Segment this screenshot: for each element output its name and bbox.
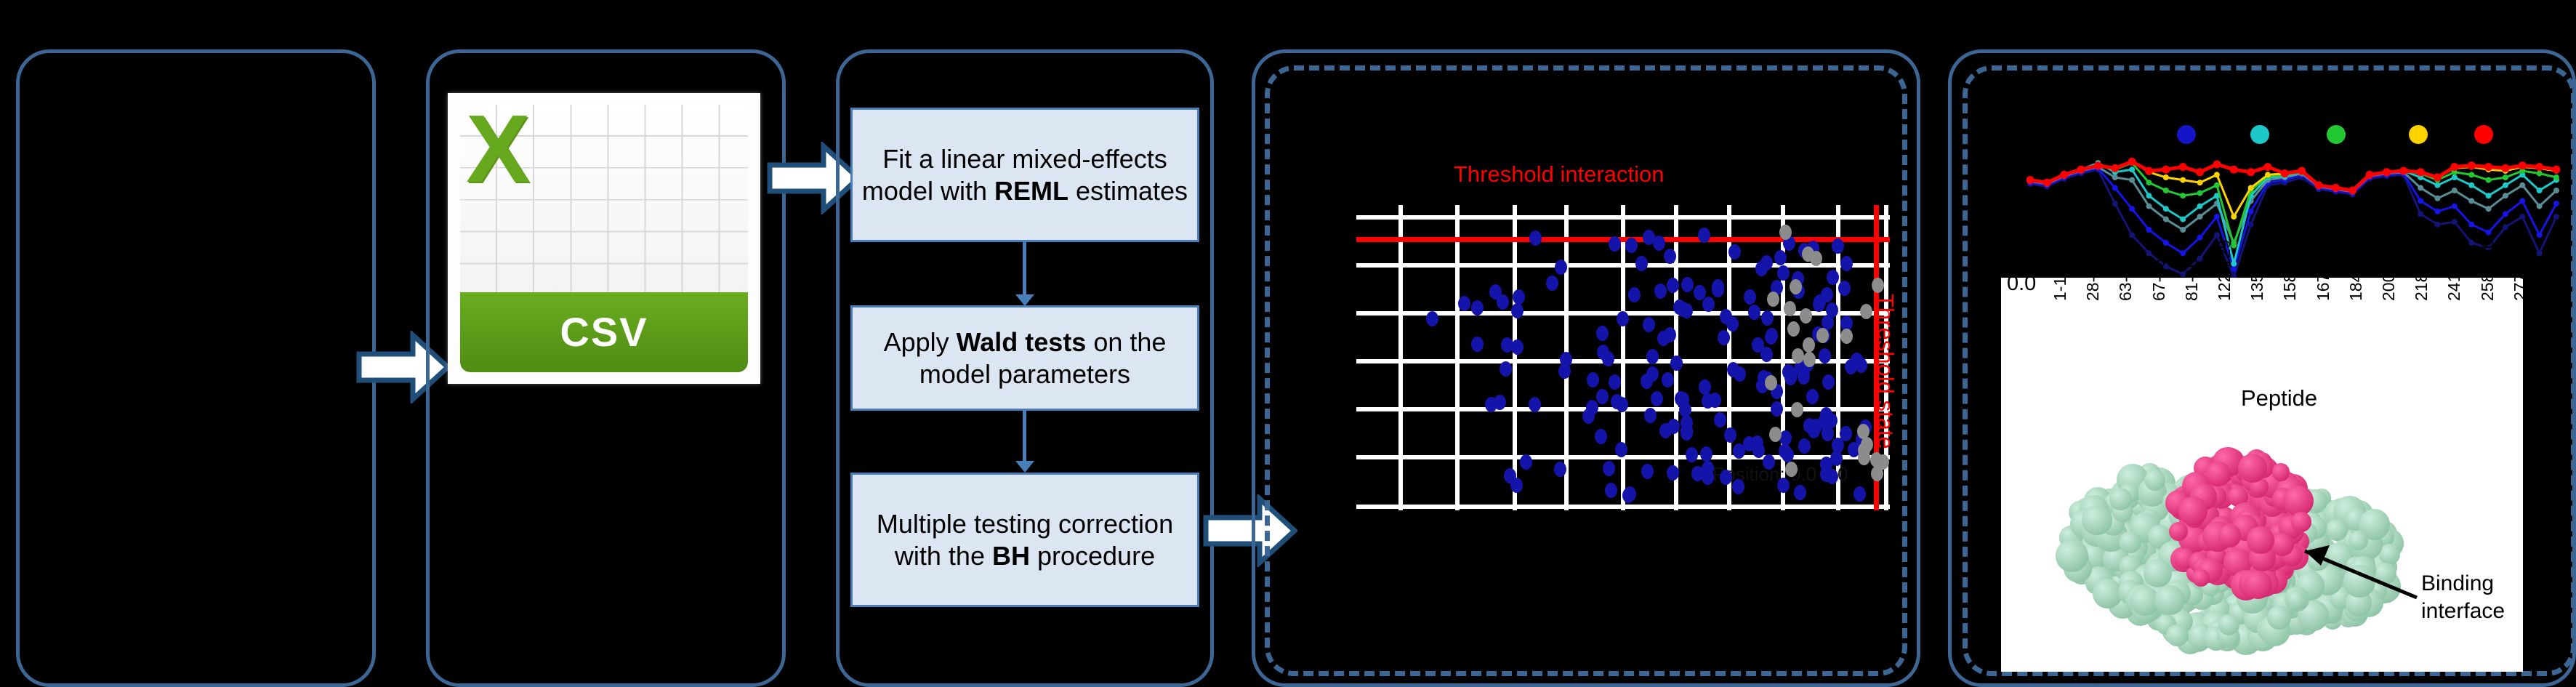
line-series-marker	[2263, 163, 2271, 171]
line-series-marker	[2486, 193, 2492, 198]
threshold-state-label: Threshold state	[1872, 294, 1899, 449]
line-series-marker	[2435, 182, 2441, 188]
line-series-marker	[2247, 168, 2255, 176]
peptide-tick-label: 81-101	[2182, 249, 2202, 301]
line-series-marker	[2537, 232, 2543, 238]
peptide-tick-label: 258-266	[2478, 240, 2497, 301]
scatter-point	[1628, 287, 1641, 302]
process-box-wald: Apply Wald tests on the model parameters	[850, 305, 1199, 411]
scatter-point	[1838, 281, 1851, 296]
line-series-marker	[2112, 174, 2118, 180]
line-series-marker	[2248, 222, 2254, 228]
scatter-point	[1643, 317, 1655, 332]
scatter-point	[1622, 488, 1635, 503]
protein-structure-image: Binding interface	[2001, 416, 2523, 672]
line-series-marker	[2434, 174, 2442, 182]
line-series-marker	[2214, 182, 2220, 188]
line-series-marker	[2214, 232, 2220, 238]
scatter-point	[1646, 349, 1659, 364]
scatter-point	[1709, 393, 1721, 408]
scatter-point	[1761, 310, 1774, 326]
csv-file-icon: X CSV	[448, 93, 760, 384]
line-series-marker	[2519, 214, 2525, 220]
process-box-reml-bold: REML	[994, 176, 1068, 206]
scatter-point	[1800, 308, 1812, 324]
scatter-point	[1779, 225, 1792, 240]
line-series-marker	[2468, 182, 2474, 188]
line-series-marker	[2537, 250, 2543, 256]
scatter-point	[1765, 375, 1777, 390]
scatter-plot: Position: 0.0 0.0	[1356, 205, 1890, 510]
scatter-point	[1821, 287, 1833, 302]
scatter-point	[1511, 303, 1524, 318]
scatter-point	[1644, 408, 1657, 423]
line-series-marker	[2060, 171, 2068, 179]
line-series-marker	[2503, 193, 2508, 198]
scatter-point	[1546, 276, 1558, 291]
csv-label-text: CSV	[560, 308, 648, 355]
line-series-marker	[2484, 163, 2492, 171]
scatter-point	[1763, 454, 1775, 470]
scatter-point	[1625, 238, 1638, 253]
peptide-axis-tick	[2203, 292, 2205, 300]
line-series-marker	[2417, 168, 2425, 176]
scatter-point	[1777, 265, 1790, 281]
scatter-point	[1681, 303, 1693, 318]
scatter-point	[1760, 347, 1773, 362]
line-series-marker	[2435, 209, 2441, 214]
line-series-marker	[2163, 206, 2169, 212]
scatter-point	[1504, 468, 1516, 483]
line-series-marker	[2180, 217, 2186, 222]
peptide-axis-tick	[2138, 292, 2139, 300]
scatter-point	[1724, 427, 1736, 443]
scatter-point	[1787, 321, 1800, 337]
line-series-marker	[2503, 211, 2508, 217]
process-box-wald-bold: Wald tests	[957, 327, 1087, 357]
scatter-point	[1760, 255, 1773, 270]
scatter-point	[1635, 256, 1648, 271]
scatter-point	[1615, 442, 1627, 457]
process-box-reml: Fit a linear mixed-effects model with RE…	[850, 108, 1199, 242]
peptide-axis-tick	[2367, 292, 2369, 300]
line-series-marker	[2298, 167, 2306, 175]
scatter-gridline-v	[1513, 205, 1517, 510]
line-series-marker	[2197, 204, 2203, 209]
line-chart-legend-dot	[2250, 125, 2269, 144]
peptide-line-chart	[1995, 145, 2562, 284]
scatter-point	[1699, 379, 1711, 395]
scatter-point	[1728, 244, 1741, 260]
line-series-marker	[2094, 161, 2102, 169]
scatter-point	[1861, 437, 1873, 452]
connector-1-arrow	[1015, 294, 1034, 306]
scatter-gridline-v	[1621, 205, 1625, 510]
scatter-gridline-v	[1455, 205, 1460, 510]
scatter-point	[1769, 427, 1782, 442]
scatter-point	[1609, 374, 1621, 390]
binding-interface-arrow	[2001, 416, 2523, 672]
line-series-marker	[2180, 177, 2186, 183]
scatter-point	[1806, 389, 1819, 404]
scatter-point	[1777, 478, 1790, 493]
peptide-tick-label: 1-15	[2050, 268, 2070, 301]
line-series-marker	[2501, 164, 2509, 172]
line-series-marker	[2452, 174, 2458, 180]
line-series-marker	[2418, 198, 2423, 204]
line-series-marker	[2315, 181, 2323, 189]
scatter-point	[1794, 485, 1806, 500]
line-series-marker	[2162, 166, 2170, 174]
scatter-point	[1511, 340, 1524, 355]
line-series-marker	[2468, 240, 2474, 246]
line-series-marker	[2418, 211, 2423, 217]
scatter-point	[1653, 236, 1665, 251]
peptide-axis-tick	[2072, 292, 2073, 300]
scatter-point	[1720, 309, 1732, 324]
scatter-point	[1840, 256, 1853, 271]
line-series-marker	[2146, 180, 2152, 185]
peptide-tick-label: 167-180	[2314, 240, 2333, 301]
line-series-marker	[2519, 161, 2527, 169]
line-series-marker	[2163, 174, 2169, 180]
peptide-axis-tick	[2104, 292, 2106, 300]
scatter-point	[1558, 363, 1571, 379]
line-series-marker	[2026, 176, 2034, 184]
scatter-point	[1596, 326, 1609, 341]
scatter-point	[1832, 438, 1844, 453]
line-series-marker	[2077, 166, 2085, 174]
line-series-marker	[2503, 224, 2508, 230]
line-series-marker	[2486, 177, 2492, 183]
line-series-marker	[2435, 196, 2441, 201]
scatter-point	[1641, 374, 1653, 389]
peptide-axis-tick	[2466, 292, 2468, 300]
scatter-point	[1732, 479, 1744, 494]
scatter-point	[1871, 466, 1883, 481]
line-series-marker	[2112, 185, 2118, 190]
line-series-marker	[2213, 161, 2221, 169]
peptide-tick-label: 63-73	[2116, 258, 2136, 301]
peptide-tick-label: 67-75	[2149, 258, 2169, 301]
line-series-marker	[2399, 167, 2407, 175]
input-stage-panel	[16, 49, 376, 687]
line-series-marker	[2163, 217, 2169, 222]
scatter-point	[1664, 249, 1676, 264]
line-series-marker	[2537, 204, 2543, 209]
scatter-point	[1818, 414, 1830, 430]
line-series-marker	[2197, 235, 2203, 241]
line-series-marker	[2163, 240, 2169, 246]
scatter-point	[1617, 311, 1629, 326]
scatter-point	[1857, 424, 1869, 439]
line-series-marker	[2418, 185, 2423, 190]
scatter-point	[1714, 412, 1726, 427]
line-series-marker	[2503, 174, 2508, 180]
scatter-gridline-v	[1398, 205, 1403, 510]
line-series-marker	[2468, 222, 2474, 228]
csv-label-band: CSV	[460, 292, 748, 372]
scatter-point	[1513, 289, 1525, 305]
binding-interface-label: Binding interface	[2421, 570, 2505, 624]
scatter-point	[1744, 289, 1756, 305]
peptide-axis-tick	[2335, 292, 2336, 300]
process-box-reml-post: estimates	[1068, 176, 1188, 206]
peptide-axis-tick	[2302, 292, 2303, 300]
line-series-marker	[2519, 198, 2525, 204]
line-series-marker	[2535, 163, 2543, 171]
line-series-marker	[2163, 188, 2169, 193]
scatter-point	[1426, 311, 1438, 326]
scatter-point	[1596, 389, 1609, 404]
process-box-bh-post: procedure	[1030, 541, 1155, 571]
peptide-axis-tick	[2039, 292, 2040, 300]
scatter-point	[1853, 486, 1866, 502]
peptide-axis-tick	[2170, 292, 2172, 300]
scatter-point	[1667, 465, 1679, 481]
scatter-point	[1872, 278, 1884, 293]
scatter-point	[1791, 402, 1803, 417]
peptide-tick-label: 200-214	[2379, 240, 2399, 301]
connector-2-arrow	[1015, 461, 1034, 473]
scatter-point	[1771, 401, 1783, 417]
scatter-point	[1681, 277, 1694, 292]
connector-1	[1023, 242, 1026, 299]
line-chart-legend-dot	[2177, 125, 2196, 144]
peptide-tick-label: 135-144	[2247, 240, 2267, 301]
scatter-point	[1494, 395, 1506, 410]
scatter-point	[1555, 260, 1567, 275]
line-series-marker	[2146, 250, 2152, 256]
line-series-marker	[2214, 172, 2220, 177]
line-series-marker	[2145, 167, 2153, 175]
scatter-point	[1529, 397, 1541, 412]
scatter-point	[1681, 423, 1693, 438]
scatter-point	[1803, 418, 1816, 433]
scatter-point	[1667, 278, 1679, 293]
peptide-axis-strip: 1-1528-4463-7367-7581-101122-129135-1441…	[2001, 278, 2523, 416]
scatter-point	[1827, 270, 1839, 285]
line-series-marker	[2197, 180, 2203, 185]
scatter-point	[1670, 355, 1683, 371]
peptide-axis-tick	[2499, 292, 2500, 300]
line-series-marker	[2537, 171, 2543, 177]
line-series-marker	[2214, 214, 2220, 220]
scatter-point	[1702, 297, 1715, 312]
line-chart-legend	[1995, 125, 2562, 147]
line-series-marker	[2197, 214, 2203, 220]
line-series-marker	[2366, 171, 2374, 179]
peptide-tick-label: 241-257	[2444, 240, 2464, 301]
line-series-marker	[2452, 188, 2458, 193]
scatter-point	[1734, 366, 1746, 382]
scatter-point	[1860, 304, 1872, 319]
peptide-axis-tick	[2400, 292, 2402, 300]
line-series-marker	[2265, 172, 2271, 177]
scatter-point	[1586, 400, 1598, 415]
line-series-marker	[2383, 168, 2391, 176]
scatter-point	[1458, 296, 1470, 311]
line-series-marker	[2452, 219, 2458, 225]
line-series-marker	[2231, 214, 2237, 220]
line-series-marker	[2503, 182, 2508, 188]
scatter-point	[1822, 374, 1835, 390]
scatter-point	[1766, 328, 1778, 343]
line-series-marker	[2146, 227, 2152, 233]
line-series-marker	[2230, 166, 2238, 174]
scatter-point	[1748, 305, 1760, 320]
scatter-point	[1651, 391, 1663, 406]
process-box-wald-pre: Apply	[884, 327, 957, 357]
line-series-marker	[2553, 188, 2559, 193]
peptide-tick-label: 28-44	[2083, 258, 2103, 301]
connector-2	[1023, 411, 1026, 465]
line-series-marker	[2146, 204, 2152, 209]
scatter-point	[1798, 438, 1811, 454]
line-series-marker	[2129, 177, 2135, 183]
line-series-marker	[2553, 174, 2559, 180]
scatter-point	[1654, 284, 1667, 299]
line-series-marker	[2537, 188, 2543, 193]
scatter-point	[1641, 464, 1654, 479]
line-series-marker	[2112, 201, 2118, 206]
scatter-point	[1785, 462, 1798, 477]
line-series-marker	[2129, 232, 2135, 238]
line-series-marker	[2450, 163, 2458, 171]
scatter-point	[1605, 483, 1617, 498]
scatter-point	[1767, 292, 1779, 307]
line-series-marker	[2553, 214, 2559, 220]
threshold-interaction-label: Threshold interaction	[1454, 161, 1665, 188]
peptide-tick-label: 218-237	[2412, 240, 2431, 301]
line-series-marker	[2180, 227, 2186, 233]
scatter-point	[1700, 446, 1712, 462]
line-series-marker	[2179, 163, 2187, 171]
line-series-marker	[2486, 230, 2492, 236]
line-series-marker	[2196, 168, 2204, 176]
peptide-axis-title: Peptide	[2241, 385, 2317, 411]
line-series-marker	[2180, 193, 2186, 198]
line-series-marker	[2348, 187, 2356, 195]
line-series-marker	[2332, 184, 2340, 192]
peptide-tick-label: 122-129	[2215, 240, 2234, 301]
scatter-point	[1471, 337, 1484, 352]
process-box-bh-bold: BH	[992, 541, 1030, 571]
scatter-point	[1587, 372, 1599, 387]
scatter-point	[1698, 228, 1710, 243]
line-series-marker	[2468, 161, 2476, 169]
peptide-tick-label: 158-166	[2280, 240, 2300, 301]
csv-icon-body: X CSV	[460, 105, 748, 372]
scatter-point	[1802, 246, 1814, 262]
scatter-point	[1662, 372, 1674, 387]
line-chart-legend-dot	[2327, 125, 2346, 144]
line-chart-svg	[1995, 145, 2562, 284]
peptide-tick-label: 184-199	[2346, 240, 2366, 301]
line-series-marker	[2468, 198, 2474, 204]
scatter-point	[1845, 359, 1857, 374]
scatter-point	[1686, 447, 1698, 462]
line-series-marker	[2553, 201, 2559, 206]
scatter-point	[1609, 236, 1621, 252]
scatter-point	[1718, 330, 1730, 345]
line-series-marker	[2129, 166, 2135, 172]
scatter-point	[1784, 301, 1796, 316]
scatter-point	[1595, 429, 1607, 444]
line-series-marker	[2553, 166, 2561, 174]
peptide-axis-tick	[2236, 292, 2237, 300]
scatter-point	[1819, 348, 1831, 363]
scatter-point	[1803, 337, 1815, 353]
peptide-tick-label: 277-284	[2511, 240, 2530, 301]
line-chart-legend-dot	[2474, 125, 2493, 144]
csv-x-letter: X	[466, 110, 581, 249]
scatter-point	[1712, 282, 1724, 297]
line-series-marker	[2111, 164, 2119, 172]
line-series-marker	[2435, 222, 2441, 228]
peptide-axis-tick	[2269, 292, 2270, 300]
scatter-point	[1870, 452, 1883, 467]
scatter-point	[1659, 423, 1672, 438]
line-series-marker	[2452, 204, 2458, 209]
line-series-marker	[2043, 179, 2051, 187]
scatter-point	[1500, 361, 1512, 377]
line-series-marker	[2197, 190, 2203, 196]
scatter-point	[1664, 327, 1676, 342]
line-series-marker	[2281, 169, 2289, 177]
line-series-marker	[2248, 185, 2254, 190]
line-series-marker	[2128, 158, 2136, 166]
peptide-axis-tick	[2433, 292, 2434, 300]
scatter-point	[1792, 348, 1804, 363]
scatter-point	[1840, 329, 1853, 344]
scatter-point	[1603, 461, 1615, 476]
process-box-bh: Multiple testing correction with the BH …	[850, 473, 1199, 607]
scatter-point	[1858, 450, 1870, 465]
line-series-marker	[2146, 193, 2152, 198]
line-series-marker	[2519, 182, 2525, 188]
line-series-marker	[2486, 206, 2492, 212]
scatter-point	[1782, 364, 1795, 379]
scatter-point	[1597, 345, 1609, 360]
scatter-point	[1616, 397, 1628, 412]
scatter-point	[1832, 238, 1844, 254]
line-series-marker	[2248, 209, 2254, 214]
line-series-marker	[2468, 172, 2474, 177]
scatter-point	[1529, 230, 1542, 246]
y-axis-zero-label: 0.0	[2007, 272, 2036, 296]
scatter-point	[1520, 454, 1532, 470]
line-series-marker	[2129, 206, 2135, 212]
line-chart-legend-dot	[2409, 125, 2428, 144]
scatter-point	[1489, 284, 1502, 300]
